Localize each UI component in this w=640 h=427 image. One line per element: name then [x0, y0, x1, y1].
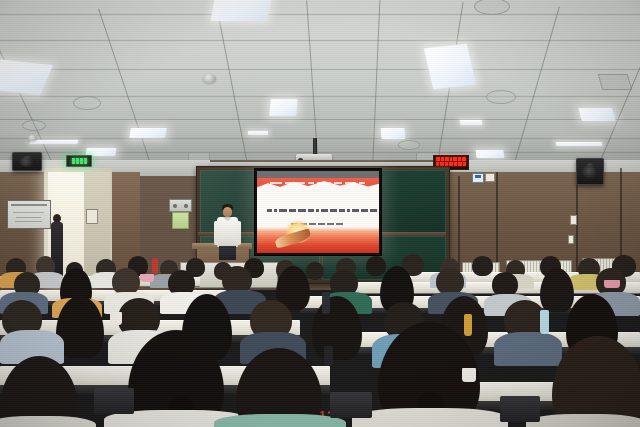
presenter-arm [235, 221, 241, 245]
evacuation-floor-plan [7, 200, 51, 229]
ceiling-vent [22, 120, 46, 131]
ceiling-panel-light [0, 59, 53, 95]
wall-speaker [12, 152, 42, 171]
speaker-cone-icon [582, 166, 598, 179]
exit-sign-glyphs [72, 158, 87, 164]
ceiling-grid-line [0, 69, 640, 70]
wall-switch[interactable] [568, 235, 574, 244]
led-sign-row [436, 157, 466, 161]
paper-cup [462, 368, 476, 382]
projector-mount-pole [313, 138, 317, 155]
emergency-exit-sign [66, 155, 92, 167]
audience-head [472, 256, 493, 276]
ceiling-tube-light [556, 142, 603, 146]
panel-indicator-icon [184, 204, 188, 208]
ceiling-panel-light [210, 0, 272, 21]
ceiling-grid-line [0, 119, 640, 120]
ceiling-tube-light [460, 120, 483, 125]
wall-placard [472, 173, 484, 183]
ceiling-grid-line [512, 6, 560, 168]
ceiling-panel-light [424, 44, 476, 90]
ceiling [0, 0, 640, 168]
smoke-detector-icon [28, 135, 37, 141]
water-bottle [540, 310, 549, 334]
audience-shoulders [494, 332, 562, 366]
ceiling-grid-line [0, 14, 640, 15]
ceiling-grid-line [98, 9, 153, 168]
presentation-slide [257, 171, 379, 253]
pink-item [140, 274, 154, 282]
audience-shoulders [526, 414, 640, 427]
ceiling-panel-light [269, 99, 297, 116]
pink-item [604, 280, 620, 288]
chair-back [330, 392, 372, 418]
green-notice [172, 212, 189, 229]
ceiling-vent [73, 96, 101, 110]
water-bottle [464, 314, 472, 336]
audience-head [306, 262, 324, 280]
projection-screen [254, 168, 382, 256]
notice-line [16, 217, 40, 218]
presenter [214, 204, 240, 260]
ceiling-tube-light [248, 131, 268, 135]
wall-speaker [576, 158, 604, 185]
wall-switch[interactable] [570, 215, 577, 225]
ceiling-panel-light [129, 128, 167, 138]
ceiling-grid-line [0, 40, 640, 41]
slide-body-line-1 [267, 209, 379, 212]
wall-placard [485, 173, 495, 182]
ceiling-grid-line [216, 3, 249, 168]
audience-head [112, 268, 140, 295]
lecture-hall-photo: 7 12 A university lecture hall viewed fr… [0, 0, 640, 427]
presenter-arm [214, 221, 220, 245]
panel-indicator-icon [173, 204, 177, 208]
paper-cup [110, 312, 122, 325]
thermos [324, 346, 333, 366]
presenter-legs [219, 246, 236, 260]
ceiling-grid-line [596, 13, 640, 168]
presenter-head [223, 207, 232, 217]
chair-back [500, 396, 540, 422]
audience-shoulders [214, 414, 346, 427]
ceiling-vent [486, 90, 516, 104]
slide-header-text [264, 182, 371, 184]
slide-top-band [257, 171, 379, 178]
chair-back [94, 388, 134, 414]
slide-wave-graphic [257, 178, 379, 195]
notice-title-line [11, 204, 46, 206]
audience-head [436, 268, 464, 295]
wall-control-panel[interactable] [169, 199, 192, 212]
audience-head [366, 256, 386, 276]
notice-line [13, 212, 44, 213]
speaker-cone-icon [19, 157, 36, 166]
ceiling-panel-light [578, 108, 615, 121]
water-bottle [152, 258, 158, 274]
thermos [322, 292, 330, 314]
ceiling-vent [598, 74, 633, 90]
ceiling-panel-light [475, 150, 504, 158]
placard-bar-icon [475, 175, 481, 178]
ceiling-vent [474, 0, 510, 15]
smoke-detector-icon [203, 74, 216, 83]
ceiling-grid-line [372, 0, 380, 168]
door-notice [86, 209, 98, 224]
ceiling-tube-light [30, 140, 79, 144]
ceiling-panel-light [381, 128, 406, 139]
notice-line [15, 221, 43, 222]
audience-shoulders [352, 408, 508, 427]
audience-shoulders [0, 416, 96, 427]
ceiling-grid-line [0, 138, 640, 139]
ceiling-vent [398, 140, 420, 150]
